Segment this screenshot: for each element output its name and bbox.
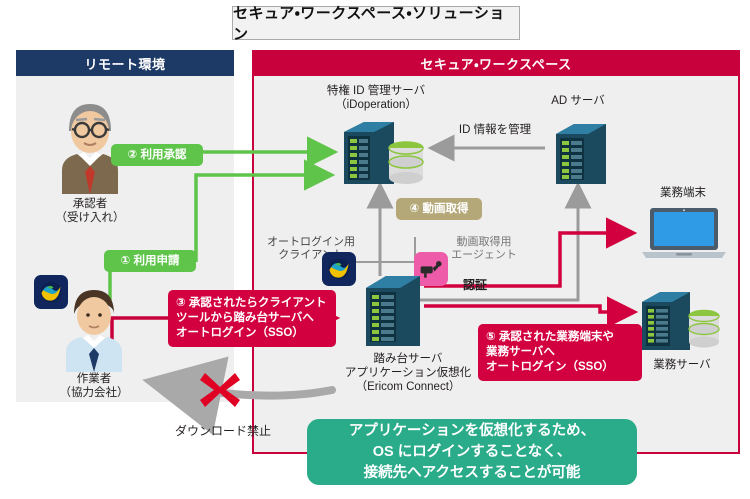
idoperation-server-icon: [336, 118, 428, 190]
jump-server-label-line1: 踏み台サーバ: [318, 352, 498, 366]
jump-server-label-line2: アプリケーション仮想化: [318, 366, 498, 380]
bracket-autologin-client: [353, 237, 415, 262]
arrow-download-blocked: [158, 383, 332, 396]
worker-label-line1: 作業者: [35, 372, 153, 386]
worker-label-line2: （協力会社）: [35, 386, 153, 400]
step-1-badge[interactable]: ① 利用申請: [104, 250, 196, 272]
idoperation-label-line2: （iDoperation）: [296, 98, 456, 112]
jump-server-label: 踏み台サーバ アプリケーション仮想化 （Ericom Connect）: [318, 352, 498, 394]
idoperation-label-line1: 特権 ID 管理サーバ: [296, 84, 456, 98]
virtualization-banner: アプリケーションを仮想化するため、 OS にログインすることなく、 接続先へアク…: [307, 419, 637, 485]
worker-label: 作業者 （協力会社）: [35, 372, 153, 400]
download-prohibited-label: ダウンロード禁止: [148, 424, 298, 438]
step-4-badge[interactable]: ④ 動画取得: [396, 198, 482, 220]
video-agent-label-line2: エージェント: [436, 249, 532, 262]
step-2-badge[interactable]: ② 利用承認: [111, 144, 203, 166]
step-3-line1: ③ 承認されたらクライアント: [176, 296, 328, 311]
step-5-line1: ⑤ 承認された業務端末や: [486, 330, 634, 345]
ad-server-icon: [552, 120, 610, 188]
jump-server-icon: [362, 272, 424, 350]
banner-line2: OS にログインすることなく、: [349, 442, 595, 463]
step-3-line3: オートログイン（SSO）: [176, 326, 328, 341]
approver-label-line1: 承認者: [35, 197, 145, 211]
autologin-client-label-line1: オートログイン用: [262, 236, 360, 249]
approver-label-line2: （受け入れ）: [35, 211, 145, 225]
id-manage-label: ID 情報を管理: [440, 124, 550, 137]
authentication-label: 認証: [440, 278, 510, 292]
jump-server-label-line3: （Ericom Connect）: [318, 380, 498, 394]
video-agent-label: 動画取得用 エージェント: [436, 236, 532, 262]
business-terminal-label: 業務端末: [636, 186, 730, 200]
ad-server-label: AD サーバ: [528, 94, 628, 108]
step-3-line2: ツールから踏み台サーバへ: [176, 311, 328, 326]
step-5-line2: 業務サーバへ: [486, 345, 634, 360]
worker-avatar: [58, 286, 130, 372]
autologin-client-icon-worker: [34, 275, 68, 309]
banner-line3: 接続先へアクセスすることが可能: [349, 463, 595, 484]
business-server-icon: [636, 288, 728, 356]
business-terminal-icon: [640, 206, 728, 260]
diagram-canvas: セキュア・ワークスペース・ソリューション リモート環境 セキュア・ワークスペース: [0, 0, 750, 499]
idoperation-label: 特権 ID 管理サーバ （iDoperation）: [296, 84, 456, 112]
step-5-callout[interactable]: ⑤ 承認された業務端末や 業務サーバへ オートログイン（SSO）: [478, 324, 642, 381]
arrow-to-business-server: [424, 306, 633, 312]
approver-label: 承認者 （受け入れ）: [35, 197, 145, 225]
business-server-label: 業務サーバ: [630, 358, 734, 372]
step-3-callout[interactable]: ③ 承認されたらクライアント ツールから踏み台サーバへ オートログイン（SSO）: [168, 290, 336, 347]
autologin-client-icon: [322, 252, 356, 286]
video-agent-label-line1: 動画取得用: [436, 236, 532, 249]
step-5-line3: オートログイン（SSO）: [486, 360, 634, 375]
banner-line1: アプリケーションを仮想化するため、: [349, 421, 595, 442]
prohibited-x-icon: [198, 368, 242, 412]
